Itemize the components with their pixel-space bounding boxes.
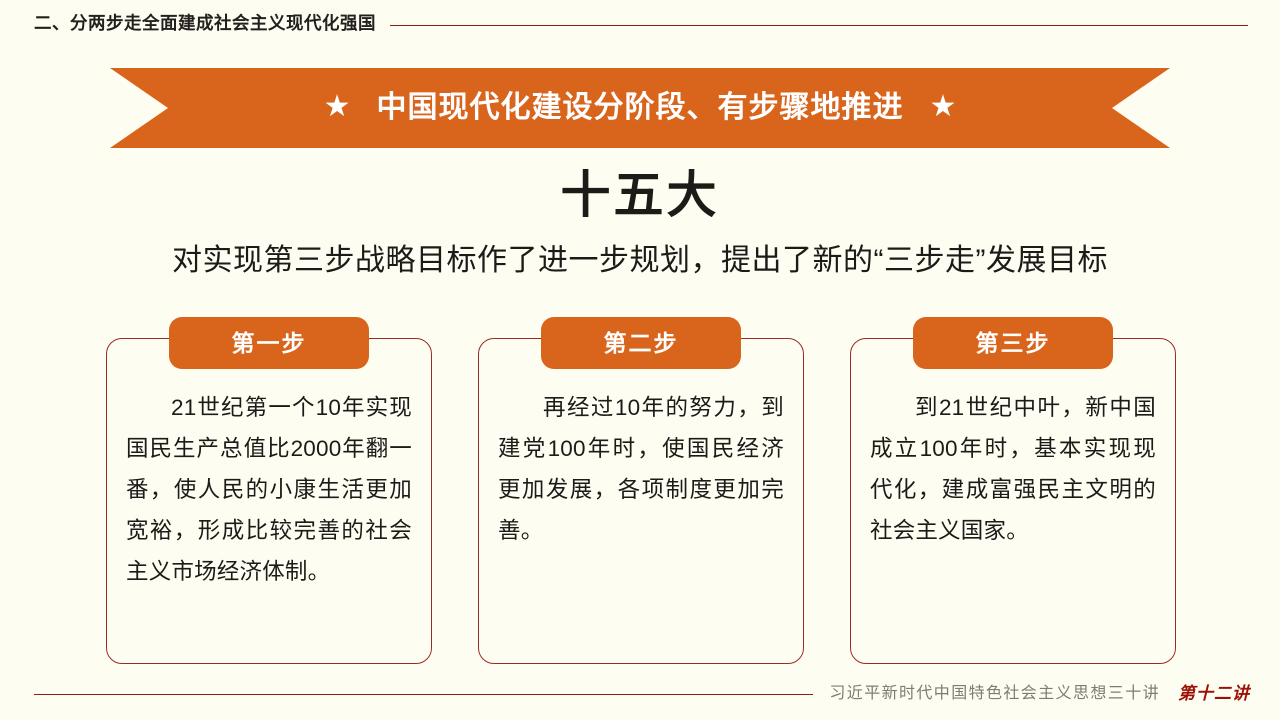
step-body-1: 21世纪第一个10年实现国民生产总值比2000年翻一番，使人民的小康生活更加宽裕… (126, 387, 412, 592)
step-tab-3: 第三步 (913, 317, 1113, 369)
ribbon-title: 中国现代化建设分阶段、有步骤地推进 (377, 93, 904, 123)
step-tab-label-2: 第二步 (604, 332, 679, 355)
footer-series-title: 习近平新时代中国特色社会主义思想三十讲 (829, 686, 1160, 702)
step-tab-label-3: 第三步 (976, 332, 1051, 355)
page-subtitle: 对实现第三步战略目标作了进一步规划，提出了新的“三步走”发展目标 (0, 243, 1280, 279)
section-title: 二、分两步走全面建成社会主义现代化强国 (34, 15, 376, 33)
header-divider-line (390, 25, 1248, 26)
step-tab-1: 第一步 (169, 317, 369, 369)
step-body-3: 到21世纪中叶，新中国成立100年时，基本实现现代化，建成富强民主文明的社会主义… (870, 387, 1156, 551)
step-card-3: 第三步 到21世纪中叶，新中国成立100年时，基本实现现代化，建成富强民主文明的… (850, 338, 1176, 664)
step-card-1: 第一步 21世纪第一个10年实现国民生产总值比2000年翻一番，使人民的小康生活… (106, 338, 432, 664)
ribbon-content: ★ 中国现代化建设分阶段、有步骤地推进 ★ (110, 68, 1170, 148)
step-tab-label-1: 第一步 (232, 332, 307, 355)
footer-divider-line (34, 694, 813, 695)
step-body-2: 再经过10年的努力，到建党100年时，使国民经济更加发展，各项制度更加完善。 (498, 387, 784, 551)
step-card-group: 第一步 21世纪第一个10年实现国民生产总值比2000年翻一番，使人民的小康生活… (106, 338, 1176, 664)
slide-footer: 习近平新时代中国特色社会主义思想三十讲 第十二讲 (0, 668, 1280, 720)
page-title: 十五大 (0, 168, 1280, 223)
step-card-2: 第二步 再经过10年的努力，到建党100年时，使国民经济更加发展，各项制度更加完… (478, 338, 804, 664)
step-tab-2: 第二步 (541, 317, 741, 369)
footer-lecture-number: 第十二讲 (1178, 686, 1250, 703)
slide-header: 二、分两步走全面建成社会主义现代化强国 (0, 0, 1280, 48)
slide-root: 二、分两步走全面建成社会主义现代化强国 ★ 中国现代化建设分阶段、有步骤地推进 … (0, 0, 1280, 720)
ribbon-banner: ★ 中国现代化建设分阶段、有步骤地推进 ★ (110, 68, 1170, 148)
star-icon-left: ★ (324, 92, 351, 122)
star-icon-right: ★ (930, 92, 957, 122)
